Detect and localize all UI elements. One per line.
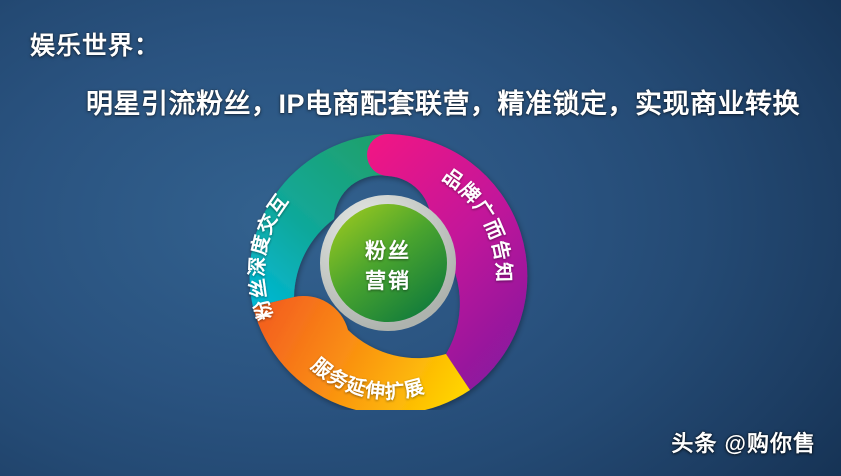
page-subtitle: 明星引流粉丝，IP电商配套联营，精准锁定，实现商业转换 (86, 82, 800, 121)
watermark: 头条 @购你售 (671, 426, 816, 458)
presentation-slide: 娱乐世界： 明星引流粉丝，IP电商配套联营，精准锁定，实现商业转换 (0, 0, 841, 476)
center-label-line1: 粉丝 (365, 239, 411, 263)
page-title: 娱乐世界： (30, 26, 160, 62)
center-core (329, 204, 447, 322)
fan-marketing-donut-diagram: 粉丝深度交互 品牌广而告知 服务延伸扩展 粉丝 营销 (238, 122, 546, 410)
center-label-line2: 营销 (365, 269, 411, 293)
